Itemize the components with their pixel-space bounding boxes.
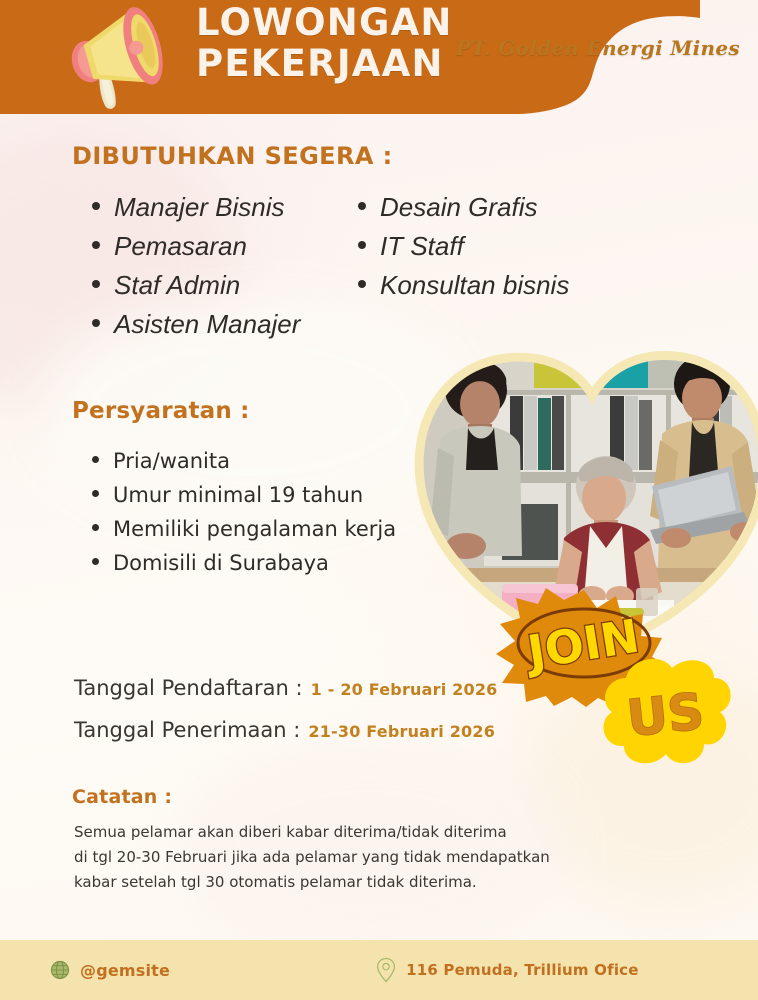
list-item: Pria/wanita: [92, 444, 396, 478]
acceptance-date-value: 21-30 Februari 2026: [308, 722, 495, 741]
bullet-icon: [92, 319, 100, 327]
vacancies-heading: DIBUTUHKAN SEGERA :: [72, 142, 393, 170]
us-label: US: [624, 682, 706, 748]
megaphone-icon: [52, 4, 178, 110]
requirements-list: Pria/wanita Umur minimal 19 tahun Memili…: [92, 444, 396, 580]
footer-address[interactable]: 116 Pemuda, Trillium Ofice: [376, 957, 639, 983]
list-item: Pemasaran: [92, 227, 300, 266]
list-item-label: IT Staff: [380, 227, 464, 266]
list-item-label: Asisten Manajer: [114, 305, 300, 344]
bullet-icon: [358, 280, 366, 288]
list-item: Staf Admin: [92, 266, 300, 305]
bullet-icon: [92, 280, 100, 288]
bullet-icon: [92, 202, 100, 210]
note-line-1: Semua pelamar akan diberi kabar diterima…: [74, 820, 674, 845]
footer-social-handle: @gemsite: [80, 961, 170, 980]
list-item: Konsultan bisnis: [358, 266, 569, 305]
acceptance-date-label: Tanggal Penerimaan :: [74, 718, 300, 742]
note-line-2: di tgl 20-30 Februari jika ada pelamar y…: [74, 845, 674, 870]
bullet-icon: [358, 202, 366, 210]
footer-social[interactable]: @gemsite: [50, 960, 170, 980]
poster-title: LOWONGAN PEKERJAAN: [196, 2, 453, 84]
globe-icon: [50, 960, 70, 980]
bullet-icon: [92, 558, 99, 565]
list-item-label: Umur minimal 19 tahun: [113, 478, 363, 512]
us-splat-badge: US: [596, 648, 736, 773]
list-item: Asisten Manajer: [92, 305, 300, 344]
list-item: Domisili di Surabaya: [92, 546, 396, 580]
footer-bar: @gemsite 116 Pemuda, Trillium Ofice: [0, 940, 758, 1000]
list-item-label: Memiliki pengalaman kerja: [113, 512, 396, 546]
title-line-2: PEKERJAAN: [196, 43, 453, 84]
list-item: Desain Grafis: [358, 188, 569, 227]
list-item-label: Manajer Bisnis: [114, 188, 285, 227]
bullet-icon: [92, 241, 100, 249]
list-item-label: Pria/wanita: [113, 444, 230, 478]
footer-address-text: 116 Pemuda, Trillium Ofice: [406, 961, 639, 979]
company-name: PT. Golden Energi Mines: [456, 36, 740, 60]
vacancies-list-left: Manajer Bisnis Pemasaran Staf Admin Asis…: [92, 188, 300, 344]
list-item-label: Staf Admin: [114, 266, 240, 305]
bullet-icon: [92, 490, 99, 497]
list-item-label: Desain Grafis: [380, 188, 538, 227]
registration-date-label: Tanggal Pendaftaran :: [74, 676, 303, 700]
bullet-icon: [92, 524, 99, 531]
list-item: Memiliki pengalaman kerja: [92, 512, 396, 546]
vacancies-list-right: Desain Grafis IT Staff Konsultan bisnis: [358, 188, 569, 305]
registration-date-row: Tanggal Pendaftaran : 1 - 20 Februari 20…: [74, 676, 498, 700]
list-item: Umur minimal 19 tahun: [92, 478, 396, 512]
registration-date-value: 1 - 20 Februari 2026: [311, 680, 498, 699]
bullet-icon: [92, 456, 99, 463]
note-heading: Catatan :: [72, 786, 172, 808]
bullet-icon: [358, 241, 366, 249]
list-item: IT Staff: [358, 227, 569, 266]
location-pin-icon: [376, 957, 396, 983]
note-body: Semua pelamar akan diberi kabar diterima…: [74, 820, 674, 895]
requirements-heading: Persyaratan :: [72, 398, 250, 424]
title-line-1: LOWONGAN: [196, 2, 453, 43]
list-item-label: Domisili di Surabaya: [113, 546, 329, 580]
job-vacancy-poster: LOWONGAN PEKERJAAN PT. Golden Energi Min…: [0, 0, 758, 1000]
list-item: Manajer Bisnis: [92, 188, 300, 227]
list-item-label: Konsultan bisnis: [380, 266, 569, 305]
list-item-label: Pemasaran: [114, 227, 247, 266]
note-line-3: kabar setelah tgl 30 otomatis pelamar ti…: [74, 870, 674, 895]
acceptance-date-row: Tanggal Penerimaan : 21-30 Februari 2026: [74, 718, 495, 742]
